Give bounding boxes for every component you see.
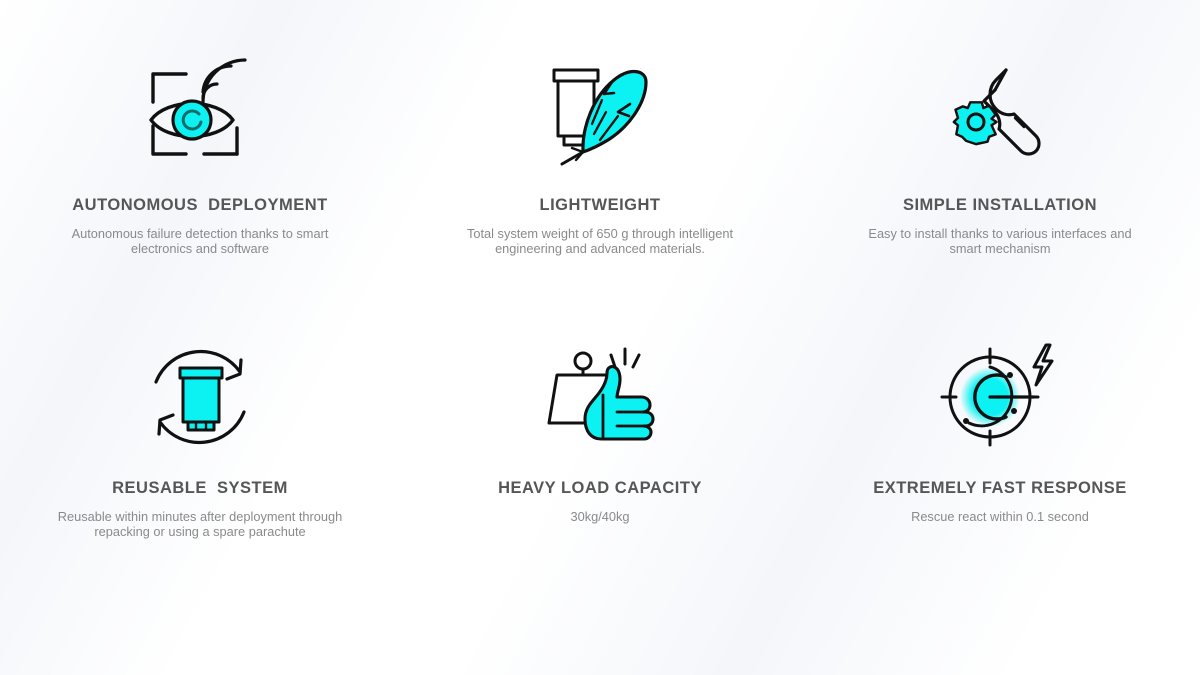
feature-description: Reusable within minutes after deployment…	[55, 509, 345, 540]
radar-lightning-icon	[940, 333, 1060, 461]
feature-description: Autonomous failure detection thanks to s…	[55, 226, 345, 257]
eye-scan-signal-icon	[141, 50, 259, 178]
feature-card-autonomous-deployment: AUTONOMOUS DEPLOYMENT Autonomous failure…	[0, 50, 400, 333]
feature-title: HEAVY LOAD CAPACITY	[498, 479, 702, 498]
feather-canister-icon	[542, 50, 658, 178]
wrench-gear-icon	[944, 50, 1056, 178]
recycle-canister-icon	[142, 333, 258, 461]
feature-title: REUSABLE SYSTEM	[112, 479, 288, 498]
thumbs-up-weight-icon	[541, 333, 659, 461]
feature-card-lightweight: LIGHTWEIGHT Total system weight of 650 g…	[400, 50, 800, 333]
feature-description: Rescue react within 0.1 second	[911, 509, 1089, 524]
features-grid: AUTONOMOUS DEPLOYMENT Autonomous failure…	[0, 0, 1200, 675]
feature-card-simple-installation: SIMPLE INSTALLATION Easy to install than…	[800, 50, 1200, 333]
feature-description: 30kg/40kg	[570, 509, 629, 524]
feature-card-reusable-system: REUSABLE SYSTEM Reusable within minutes …	[0, 333, 400, 616]
feature-card-heavy-load-capacity: HEAVY LOAD CAPACITY 30kg/40kg	[400, 333, 800, 616]
feature-title: SIMPLE INSTALLATION	[903, 196, 1097, 215]
feature-description: Total system weight of 650 g through int…	[455, 226, 745, 257]
feature-description: Easy to install thanks to various interf…	[855, 226, 1145, 257]
feature-title: LIGHTWEIGHT	[540, 196, 661, 215]
feature-title: EXTREMELY FAST RESPONSE	[873, 479, 1127, 498]
feature-card-extremely-fast-response: EXTREMELY FAST RESPONSE Rescue react wit…	[800, 333, 1200, 616]
feature-title: AUTONOMOUS DEPLOYMENT	[72, 196, 327, 215]
